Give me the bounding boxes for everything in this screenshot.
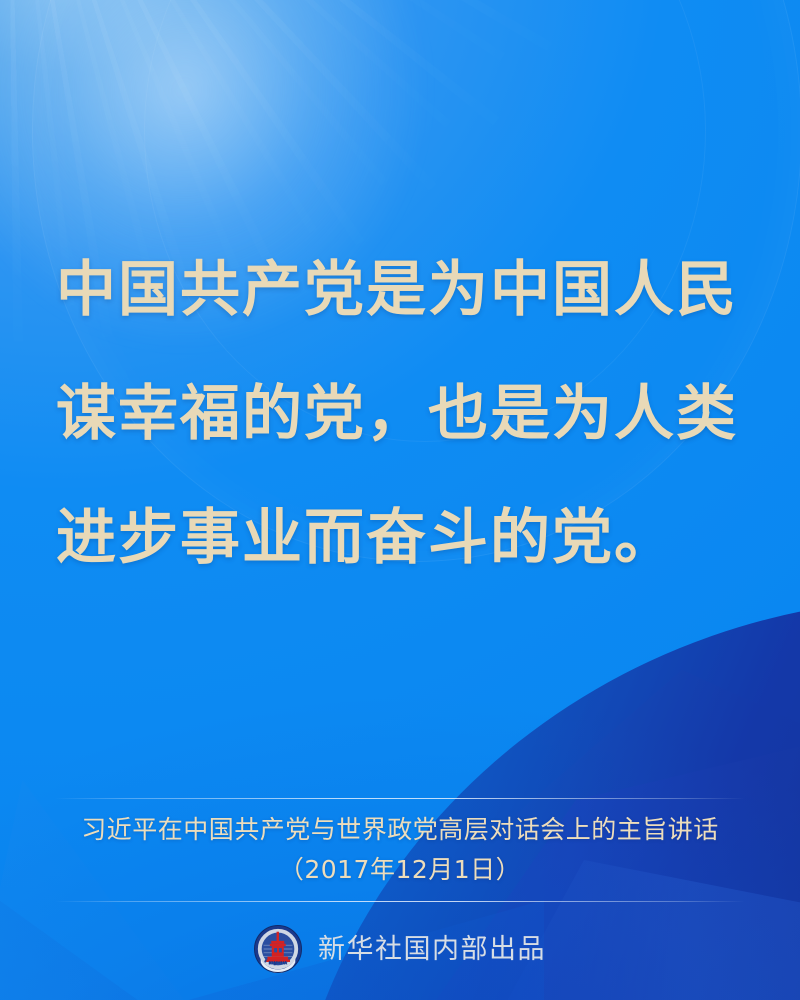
caption-date: （2017年12月1日） [0, 853, 800, 901]
headline-quote: 中国共产党是为中国人民 谋幸福的党，也是为人类 进步事业而奋斗的党。 [0, 228, 800, 600]
poster-content: 中国共产党是为中国人民 谋幸福的党，也是为人类 进步事业而奋斗的党。 习近平在中… [0, 0, 800, 1000]
headline-line-1: 中国共产党是为中国人民 [56, 228, 744, 352]
divider-bottom [55, 901, 745, 902]
headline-line-2: 谋幸福的党，也是为人类 [56, 352, 744, 476]
footer-attribution: XINHUA 新华社国内部出品 [0, 925, 800, 973]
caption-block: 习近平在中国共产党与世界政党高层对话会上的主旨讲话 （2017年12月1日） [0, 790, 800, 902]
caption-source: 习近平在中国共产党与世界政党高层对话会上的主旨讲话 [0, 799, 800, 853]
headline-line-3: 进步事业而奋斗的党。 [56, 476, 744, 600]
poster-canvas: 中国共产党是为中国人民 谋幸福的党，也是为人类 进步事业而奋斗的党。 习近平在中… [0, 0, 800, 1000]
xinhua-logo-icon: XINHUA [254, 925, 302, 973]
xinhua-wordmark: XINHUA [269, 960, 288, 966]
publisher-label: 新华社国内部出品 [318, 936, 546, 963]
